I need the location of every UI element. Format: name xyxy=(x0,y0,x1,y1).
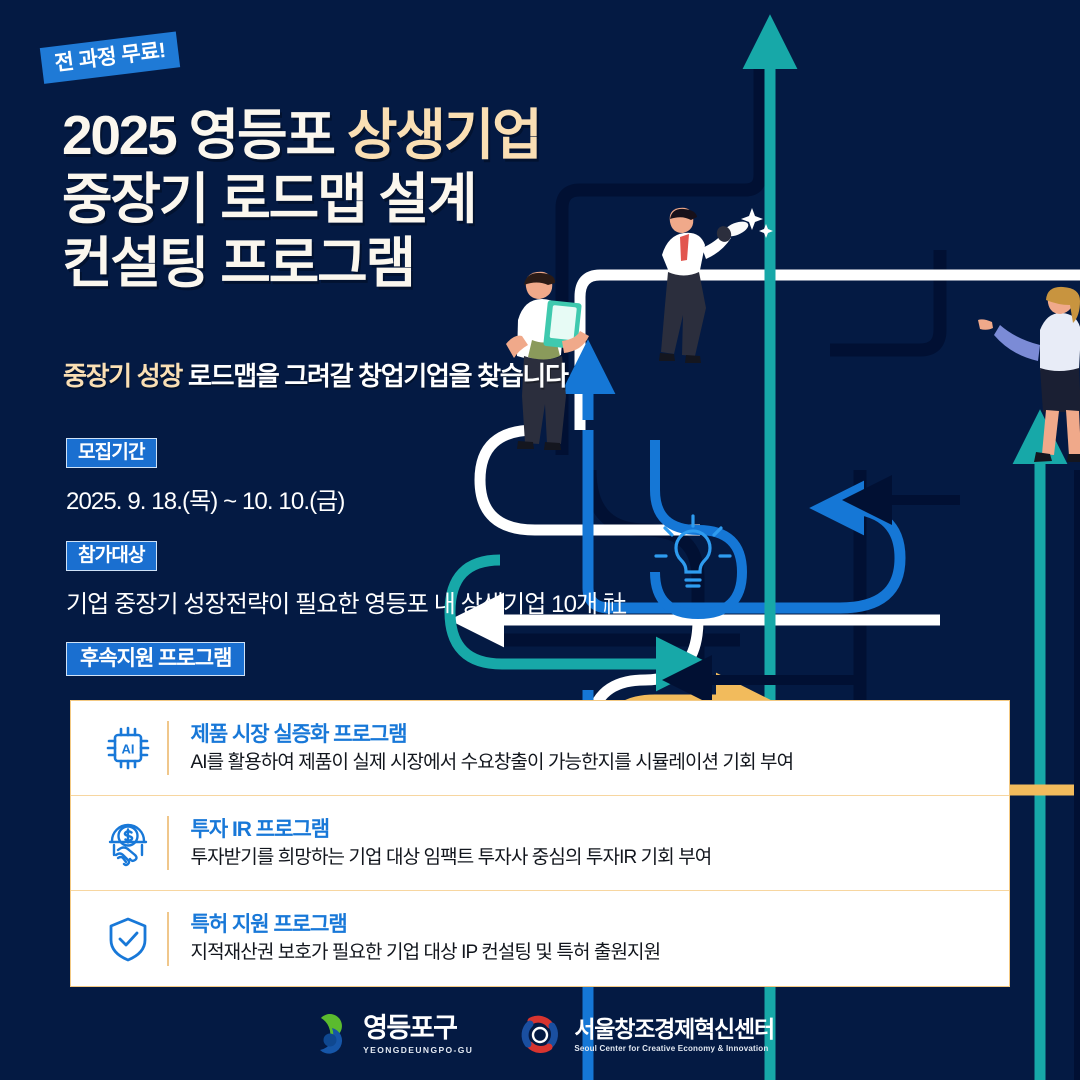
program-card-list: AI 제품 시장 실증화 프로그램 AI를 활용하여 제품이 실제 시장에서 수… xyxy=(70,700,1010,987)
lightbulb-icon xyxy=(656,516,730,586)
free-course-badge: 전 과정 무료! xyxy=(40,31,181,83)
program-card-title: 제품 시장 실증화 프로그램 xyxy=(191,721,1010,748)
handshake-coin-icon xyxy=(89,817,167,869)
seoul-center-logo: 서울창조경제혁신센터 Seoul Center for Creative Eco… xyxy=(517,1012,774,1058)
headline-line-2: 중장기 로드맵 설계 xyxy=(62,168,702,232)
program-card-title: 투자 IR 프로그램 xyxy=(191,816,1010,843)
followup-program-tag: 후속지원 프로그램 xyxy=(66,642,245,676)
seoul-center-logo-en: Seoul Center for Creative Economy & Inno… xyxy=(574,1045,774,1053)
program-card: AI 제품 시장 실증화 프로그램 AI를 활용하여 제품이 실제 시장에서 수… xyxy=(71,701,1009,796)
participation-target-tag: 참가대상 xyxy=(66,541,157,571)
footer-logos: 영등포구 YEONGDEUNGPO-GU 서울창조경제혁신센터 Seoul Ce… xyxy=(0,1012,1080,1058)
shield-check-icon xyxy=(89,913,167,965)
headline-line-1-accent: 상생기업 xyxy=(347,104,541,166)
headline-line-3: 컨설팅 프로그램 xyxy=(62,232,702,296)
participation-target-block: 참가대상 기업 중장기 성장전략이 필요한 영등포 내 상생기업 10개 社 xyxy=(66,541,626,619)
yeongdeungpo-gu-logo-ko: 영등포구 xyxy=(363,1015,473,1042)
program-card: 투자 IR 프로그램 투자받기를 희망하는 기업 대상 임팩트 투자사 중심의 … xyxy=(71,796,1009,891)
card-divider xyxy=(167,816,169,870)
headline-line-1: 2025 영등포 상생기업 xyxy=(62,104,702,168)
yeongdeungpo-gu-logo-en: YEONGDEUNGPO-GU xyxy=(363,1046,473,1055)
seoul-center-logo-mark xyxy=(517,1012,563,1058)
svg-text:AI: AI xyxy=(122,742,135,757)
participation-target-value: 기업 중장기 성장전략이 필요한 영등포 내 상생기업 10개 社 xyxy=(66,584,626,619)
ai-chip-icon: AI xyxy=(89,722,167,774)
program-card-title: 특허 지원 프로그램 xyxy=(191,911,1010,938)
subtitle-rest: 로드맵을 그려갈 창업기업을 찾습니다 xyxy=(182,361,568,391)
recruitment-period-value: 2025. 9. 18.(목) ~ 10. 10.(금) xyxy=(66,481,344,516)
yeongdeungpo-gu-logo: 영등포구 YEONGDEUNGPO-GU xyxy=(306,1012,473,1058)
card-divider xyxy=(167,912,169,966)
poster-root: 전 과정 무료! 2025 영등포 상생기업 중장기 로드맵 설계 컨설팅 프로… xyxy=(0,0,1080,1080)
recruitment-period-tag: 모집기간 xyxy=(66,438,157,468)
program-card-description: AI를 활용하여 제품이 실제 시장에서 수요창출이 가능한지를 시뮬레이션 기… xyxy=(191,751,1010,776)
program-card-description: 투자받기를 희망하는 기업 대상 임팩트 투자사 중심의 투자IR 기회 부여 xyxy=(191,846,1010,871)
page-title: 2025 영등포 상생기업 중장기 로드맵 설계 컨설팅 프로그램 xyxy=(62,104,702,295)
subtitle-accent: 중장기 성장 xyxy=(63,361,182,391)
yeongdeungpo-gu-logo-mark xyxy=(306,1012,352,1058)
recruitment-period-block: 모집기간 2025. 9. 18.(목) ~ 10. 10.(금) xyxy=(66,438,344,516)
person-pointing-illustration xyxy=(978,287,1080,462)
program-card-description: 지적재산권 보호가 필요한 기업 대상 IP 컨설팅 및 특허 출원지원 xyxy=(191,941,1010,966)
headline-line-1-plain: 2025 영등포 xyxy=(62,104,347,166)
seoul-center-logo-ko: 서울창조경제혁신센터 xyxy=(574,1018,774,1041)
card-divider xyxy=(167,721,169,775)
subtitle: 중장기 성장 로드맵을 그려갈 창업기업을 찾습니다 xyxy=(63,356,568,393)
program-card: 특허 지원 프로그램 지적재산권 보호가 필요한 기업 대상 IP 컨설팅 및 … xyxy=(71,891,1009,986)
